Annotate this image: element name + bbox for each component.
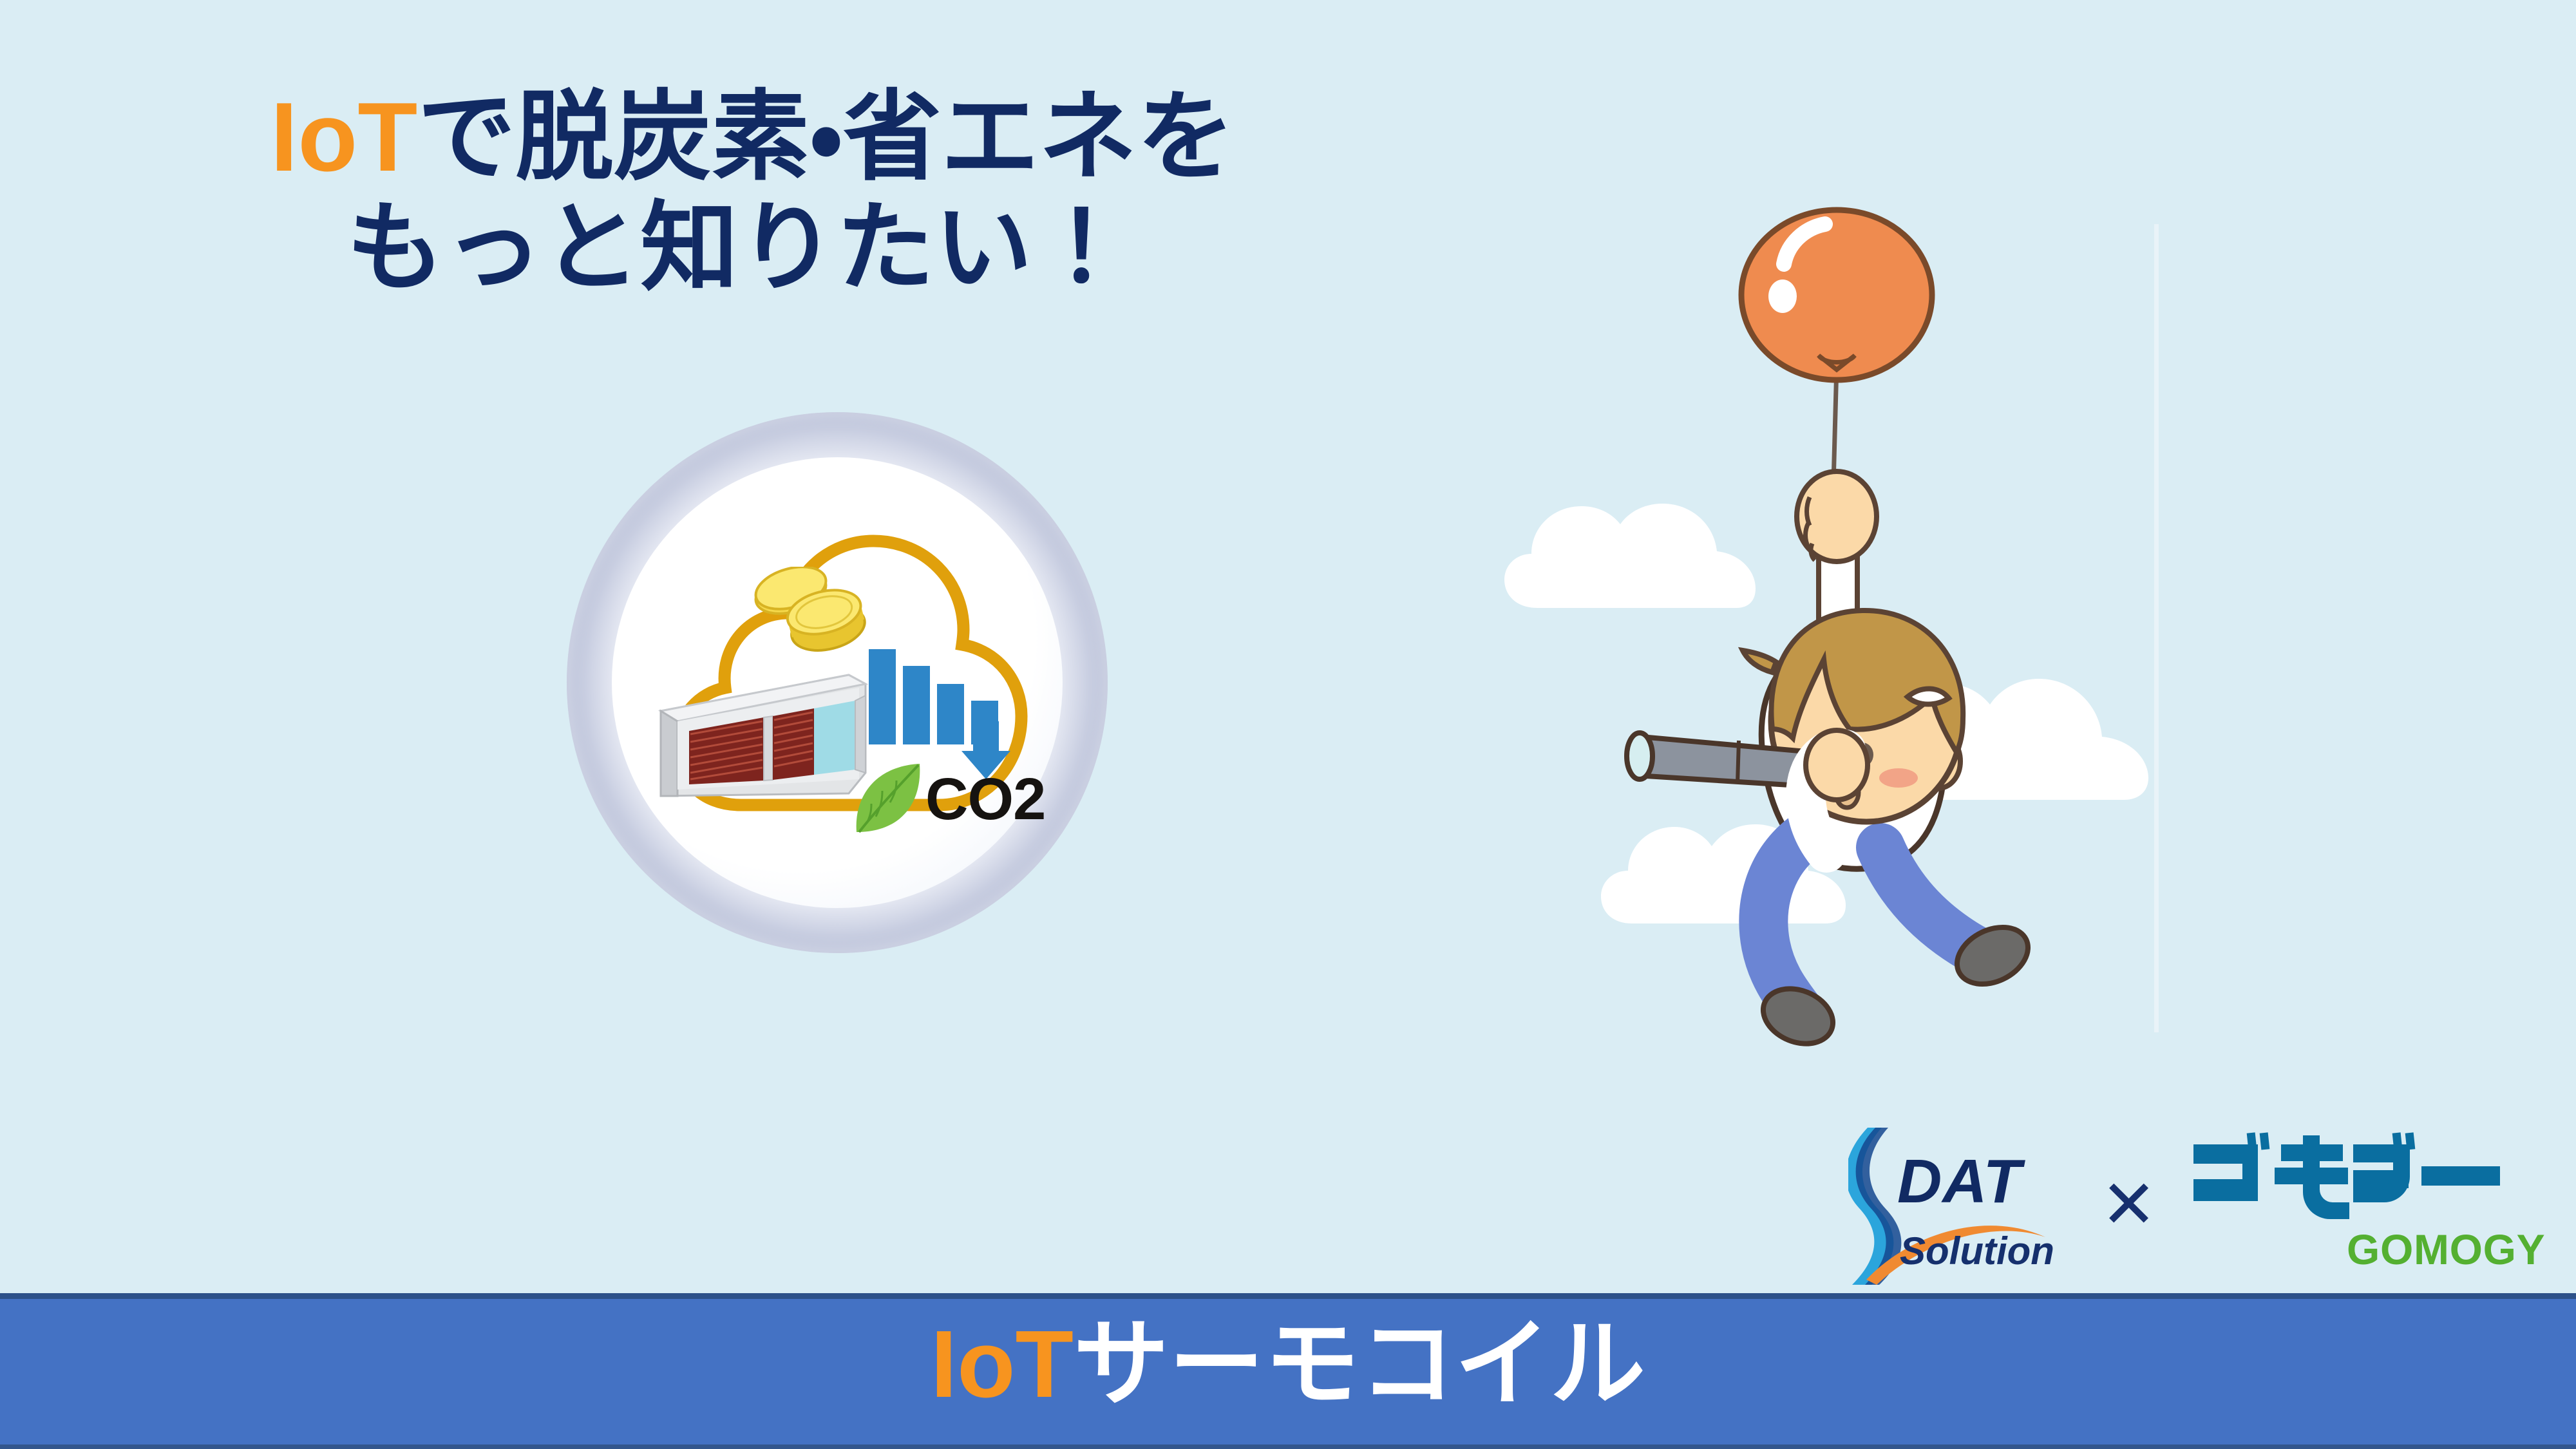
gomogy-logo: GOMOGY (2192, 1130, 2508, 1285)
slide-canvas: IoTで脱炭素・省エネを もっと知りたい！ (0, 0, 2576, 1449)
headline-line-2: もっと知りたい！ (270, 193, 1235, 304)
hand-on-telescope (1806, 730, 1868, 800)
hand-icon (1797, 471, 1877, 562)
product-badge-inner: CO2 (612, 457, 1063, 908)
bottom-banner: IoTサーモコイル (0, 1293, 2576, 1449)
dat-subtitle: Solution (1900, 1232, 2054, 1271)
banner-title: IoTサーモコイル (0, 1317, 2576, 1412)
mascot-illustration (1546, 206, 2125, 1050)
gomogy-kana-icon (2192, 1130, 2501, 1220)
banner-accent-iot: IoT (931, 1311, 1074, 1417)
cheek-blush (1879, 768, 1918, 788)
co2-label: CO2 (925, 770, 1045, 829)
dat-solution-logo: DAT Solution (1848, 1124, 2061, 1288)
dat-wordmark: DAT (1897, 1151, 2022, 1213)
banner-product-name: サーモコイル (1074, 1311, 1645, 1417)
heat-exchanger-coil-icon (656, 670, 868, 818)
page-title: IoTで脱炭素・省エネを もっと知りたい！ (270, 82, 1235, 304)
balloon-icon (1741, 210, 1932, 380)
leaf-icon (850, 760, 926, 836)
gomogy-wordmark: GOMOGY (2347, 1228, 2545, 1271)
hair-tuft (1743, 650, 1776, 672)
eye (1908, 688, 1949, 704)
vertical-guide-line (2154, 224, 2159, 1032)
product-badge-circle: CO2 (567, 412, 1108, 953)
headline-accent-iot: IoT (270, 82, 417, 192)
logo-separator-x: ✕ (2101, 1171, 2157, 1238)
coin-stack-icon (751, 567, 873, 657)
partner-logos: DAT Solution ✕ (1848, 1124, 2512, 1294)
headline-line-1: IoTで脱炭素・省エネを (270, 82, 1235, 193)
headline-line-1-rest: で脱炭素・省エネを (417, 82, 1235, 192)
